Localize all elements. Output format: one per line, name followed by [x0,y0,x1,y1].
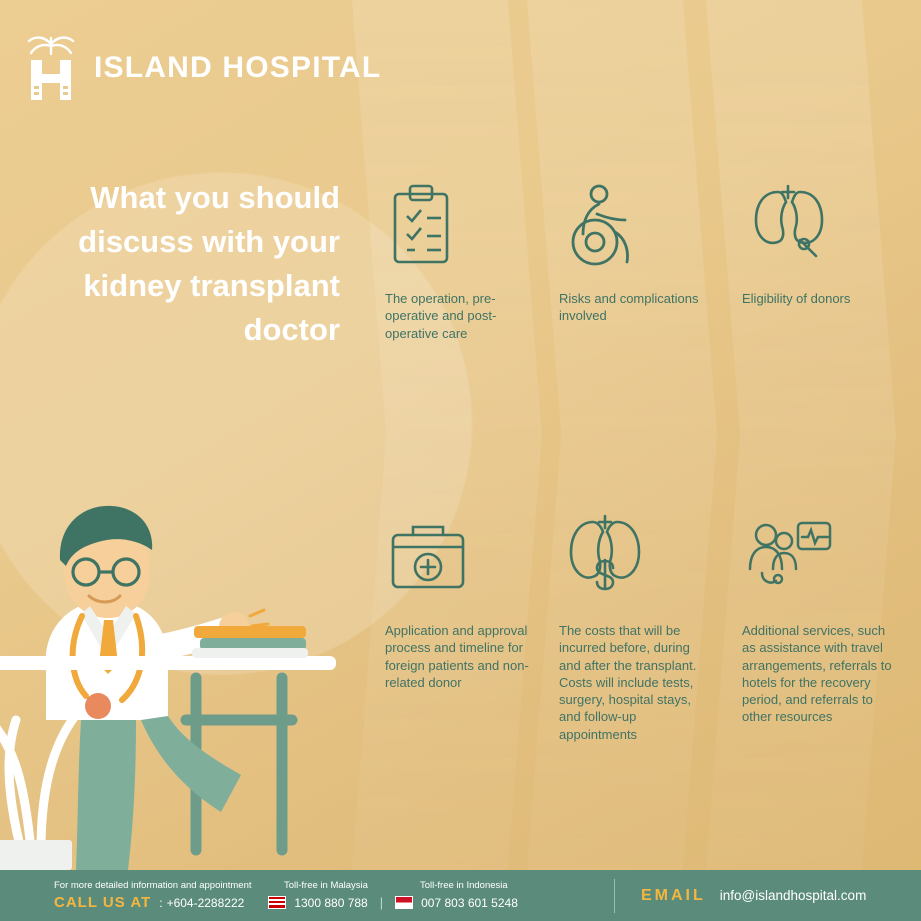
footer-bar: For more detailed information and appoin… [0,870,921,921]
indonesia-phone-number[interactable]: 007 803 601 5248 [421,896,518,910]
kidney-dollar-cost-icon [559,508,709,608]
malaysia-phone-number[interactable]: 1300 880 788 [294,896,367,910]
topic-item-5-text: The costs that will be incurred before, … [559,622,709,743]
patient-support-services-icon [742,508,892,608]
infographic-canvas: ISLAND HOSPITAL What you should discuss … [0,0,921,921]
footer-contact-block: For more detailed information and appoin… [0,880,614,911]
malaysia-label: Toll-free in Malaysia [284,880,420,891]
brand-name: ISLAND HOSPITAL [94,51,381,85]
topic-item-2-text: Risks and complications involved [559,290,709,325]
indonesia-label: Toll-free in Indonesia [420,880,508,891]
topic-item-6: Additional services, such as assistance … [742,508,892,726]
palm-tree-building-icon [22,32,80,104]
email-label: EMAIL [641,887,706,905]
wheelchair-accessible-icon [559,176,709,276]
kidneys-donor-icon [742,176,892,276]
topic-item-4: Application and approval process and tim… [385,508,535,691]
topic-item-2: Risks and complications involved [559,176,709,325]
topic-item-5: The costs that will be incurred before, … [559,508,709,743]
footer-info-label: For more detailed information and appoin… [54,880,284,891]
indonesia-flag-icon [395,896,413,909]
chevron-band-3 [706,0,896,870]
malaysia-flag-icon [268,896,286,909]
footer-labels-row: For more detailed information and appoin… [54,880,614,891]
clipboard-checklist-icon [385,176,535,276]
medical-kit-plus-icon [385,508,535,608]
footer-vertical-divider [614,879,615,913]
footer-numbers-row: CALL US AT : +604-2288222 1300 880 788 |… [54,894,614,911]
page-title: What you should discuss with your kidney… [30,176,340,352]
topic-item-6-text: Additional services, such as assistance … [742,622,892,726]
main-phone-number[interactable]: +604-2288222 [167,896,245,910]
topic-item-3-text: Eligibility of donors [742,290,892,307]
call-us-label: CALL US AT [54,894,151,911]
topic-item-1: The operation, pre-operative and post-op… [385,176,535,342]
topic-item-3: Eligibility of donors [742,176,892,307]
email-address[interactable]: info@islandhospital.com [720,888,867,903]
topic-item-4-text: Application and approval process and tim… [385,622,535,691]
brand-logo: ISLAND HOSPITAL [22,32,381,104]
chevron-band-1 [352,0,542,870]
doctor-at-desk-illustration [0,420,376,870]
footer-email-block: EMAIL info@islandhospital.com [614,879,866,913]
topic-item-1-text: The operation, pre-operative and post-op… [385,290,535,342]
call-separator: : [159,896,162,910]
footer-divider: | [376,895,387,910]
